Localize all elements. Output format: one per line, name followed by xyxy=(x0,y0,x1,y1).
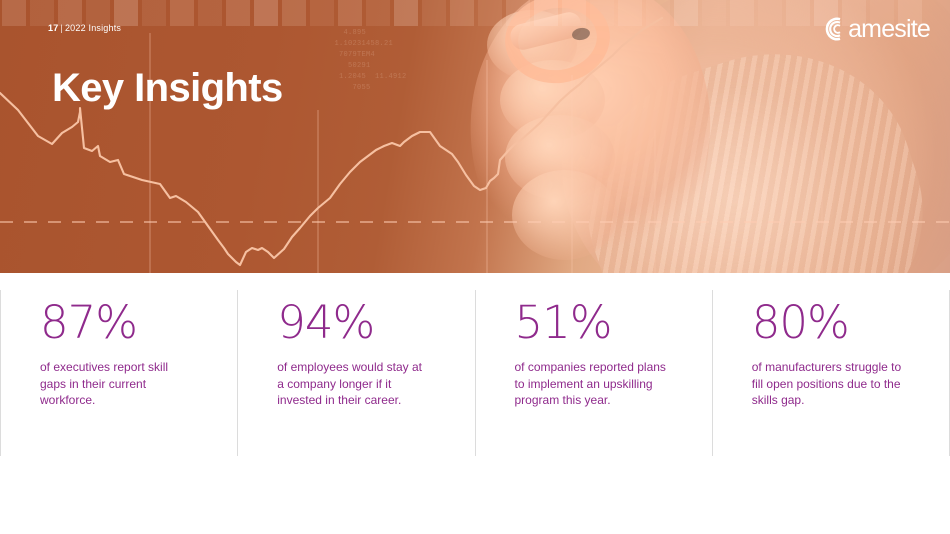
slide: 4.895 1.10231458.21 7079TEM4 50291 1.204… xyxy=(0,0,950,534)
stat-card: 51% of companies reported plans to imple… xyxy=(475,290,712,456)
chart-series-line xyxy=(0,18,662,265)
brand-logo: amesite xyxy=(821,16,930,42)
hero-banner: 4.895 1.10231458.21 7079TEM4 50291 1.204… xyxy=(0,0,950,273)
page-separator: | xyxy=(60,23,63,33)
stat-description: of manufacturers struggle to fill open p… xyxy=(752,359,904,409)
stat-card: 80% of manufacturers struggle to fill op… xyxy=(712,290,950,456)
deck-name: 2022 Insights xyxy=(65,23,121,33)
stat-value: 51% xyxy=(515,300,694,345)
stat-value: 87% xyxy=(40,300,219,345)
stat-value: 94% xyxy=(277,300,456,345)
logo-wordmark: amesite xyxy=(848,17,930,42)
stat-description: of companies reported plans to implement… xyxy=(515,359,667,409)
hero-line-chart xyxy=(0,0,950,273)
page-title: Key Insights xyxy=(52,66,283,111)
page-number-label: 17|2022 Insights xyxy=(48,23,121,33)
stat-description: of employees would stay at a company lon… xyxy=(277,359,429,409)
stat-description: of executives report skill gaps in their… xyxy=(40,359,192,409)
page-number: 17 xyxy=(48,23,58,33)
stats-row: 87% of executives report skill gaps in t… xyxy=(0,290,950,456)
stat-value: 80% xyxy=(752,300,931,345)
stat-card: 94% of employees would stay at a company… xyxy=(237,290,474,456)
amesite-swoosh-icon xyxy=(821,16,847,42)
stat-card: 87% of executives report skill gaps in t… xyxy=(0,290,237,456)
